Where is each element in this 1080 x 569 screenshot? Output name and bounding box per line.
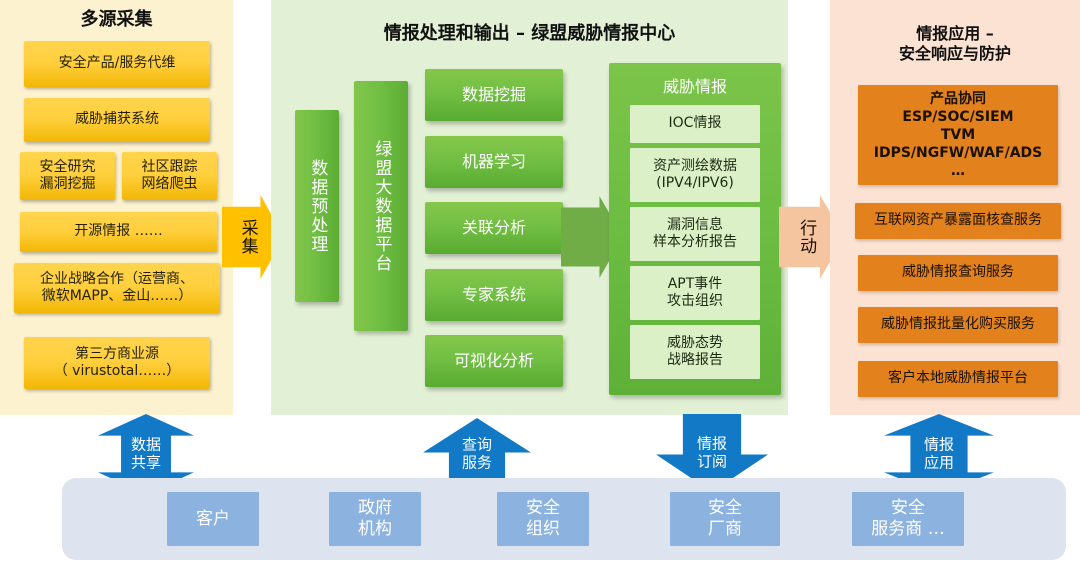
arrow-action-label: 行动 (796, 219, 816, 255)
collection-card-3[interactable]: 安全研究漏洞挖掘 (20, 152, 115, 200)
analytics-card-5[interactable]: 可视化分析 (425, 335, 563, 387)
flow-arrow-intel-application-label: 情报应用 (884, 436, 994, 471)
collection-card-7[interactable]: 第三方商业源（ virustotal……） (24, 337, 210, 389)
stage-bar-preprocessing[interactable]: 数据预处理 (295, 110, 339, 302)
collection-card-5[interactable]: 开源情报 …… (20, 212, 217, 252)
consumer-chip-3[interactable]: 安全组织 (497, 492, 589, 546)
panel-title-processing: 情报处理和输出 – 绿盟威胁情报中心 (271, 22, 788, 45)
arrow-collect-label: 采集 (237, 219, 257, 255)
application-card-1[interactable]: 产品协同ESP/SOC/SIEMTVMIDPS/NGFW/WAF/ADS… (858, 85, 1058, 185)
flow-arrow-query-service-label: 查询服务 (423, 436, 531, 471)
flow-arrow-data-sharing-label: 数据共享 (98, 436, 194, 471)
analytics-card-3[interactable]: 关联分析 (425, 202, 563, 254)
application-card-4[interactable]: 威胁情报批量化购买服务 (858, 307, 1058, 343)
panel-title-application: 情报应用 –安全响应与防护 (830, 24, 1080, 65)
threat-intelligence-title: 威胁情报 (609, 73, 781, 97)
consumer-chip-1[interactable]: 客户 (167, 492, 259, 546)
threat-intel-card-3[interactable]: 漏洞信息样本分析报告 (630, 207, 760, 261)
consumer-chip-2[interactable]: 政府机构 (329, 492, 421, 546)
flow-arrow-intel-subscription-label: 情报订阅 (656, 435, 768, 470)
diagram-canvas: 多源采集 安全产品/服务代维 威胁捕获系统 安全研究漏洞挖掘 社区跟踪网络爬虫 … (0, 0, 1080, 569)
analytics-card-2[interactable]: 机器学习 (425, 136, 563, 188)
threat-intel-card-2[interactable]: 资产测绘数据(IPV4/IPV6) (630, 148, 760, 202)
application-card-5[interactable]: 客户本地威胁情报平台 (858, 361, 1058, 397)
panel-title-collection: 多源采集 (0, 8, 233, 31)
collection-card-1[interactable]: 安全产品/服务代维 (24, 41, 210, 87)
analytics-card-1[interactable]: 数据挖掘 (425, 69, 563, 121)
collection-card-4[interactable]: 社区跟踪网络爬虫 (122, 152, 217, 200)
threat-intel-card-4[interactable]: APT事件攻击组织 (630, 266, 760, 320)
application-card-2[interactable]: 互联网资产暴露面核查服务 (855, 203, 1061, 239)
collection-card-2[interactable]: 威胁捕获系统 (24, 98, 210, 142)
consumer-chip-4[interactable]: 安全厂商 (670, 492, 780, 546)
application-card-3[interactable]: 威胁情报查询服务 (858, 255, 1058, 291)
collection-card-6[interactable]: 企业战略合作（运营商、微软MAPP、金山……） (14, 263, 220, 313)
analytics-card-4[interactable]: 专家系统 (425, 269, 563, 321)
threat-intel-card-1[interactable]: IOC情报 (630, 105, 760, 143)
stage-bar-bigdata-platform[interactable]: 绿盟大数据平台 (354, 81, 408, 331)
consumer-chip-5[interactable]: 安全服务商 … (852, 492, 964, 546)
threat-intel-card-5[interactable]: 威胁态势战略报告 (630, 325, 760, 379)
